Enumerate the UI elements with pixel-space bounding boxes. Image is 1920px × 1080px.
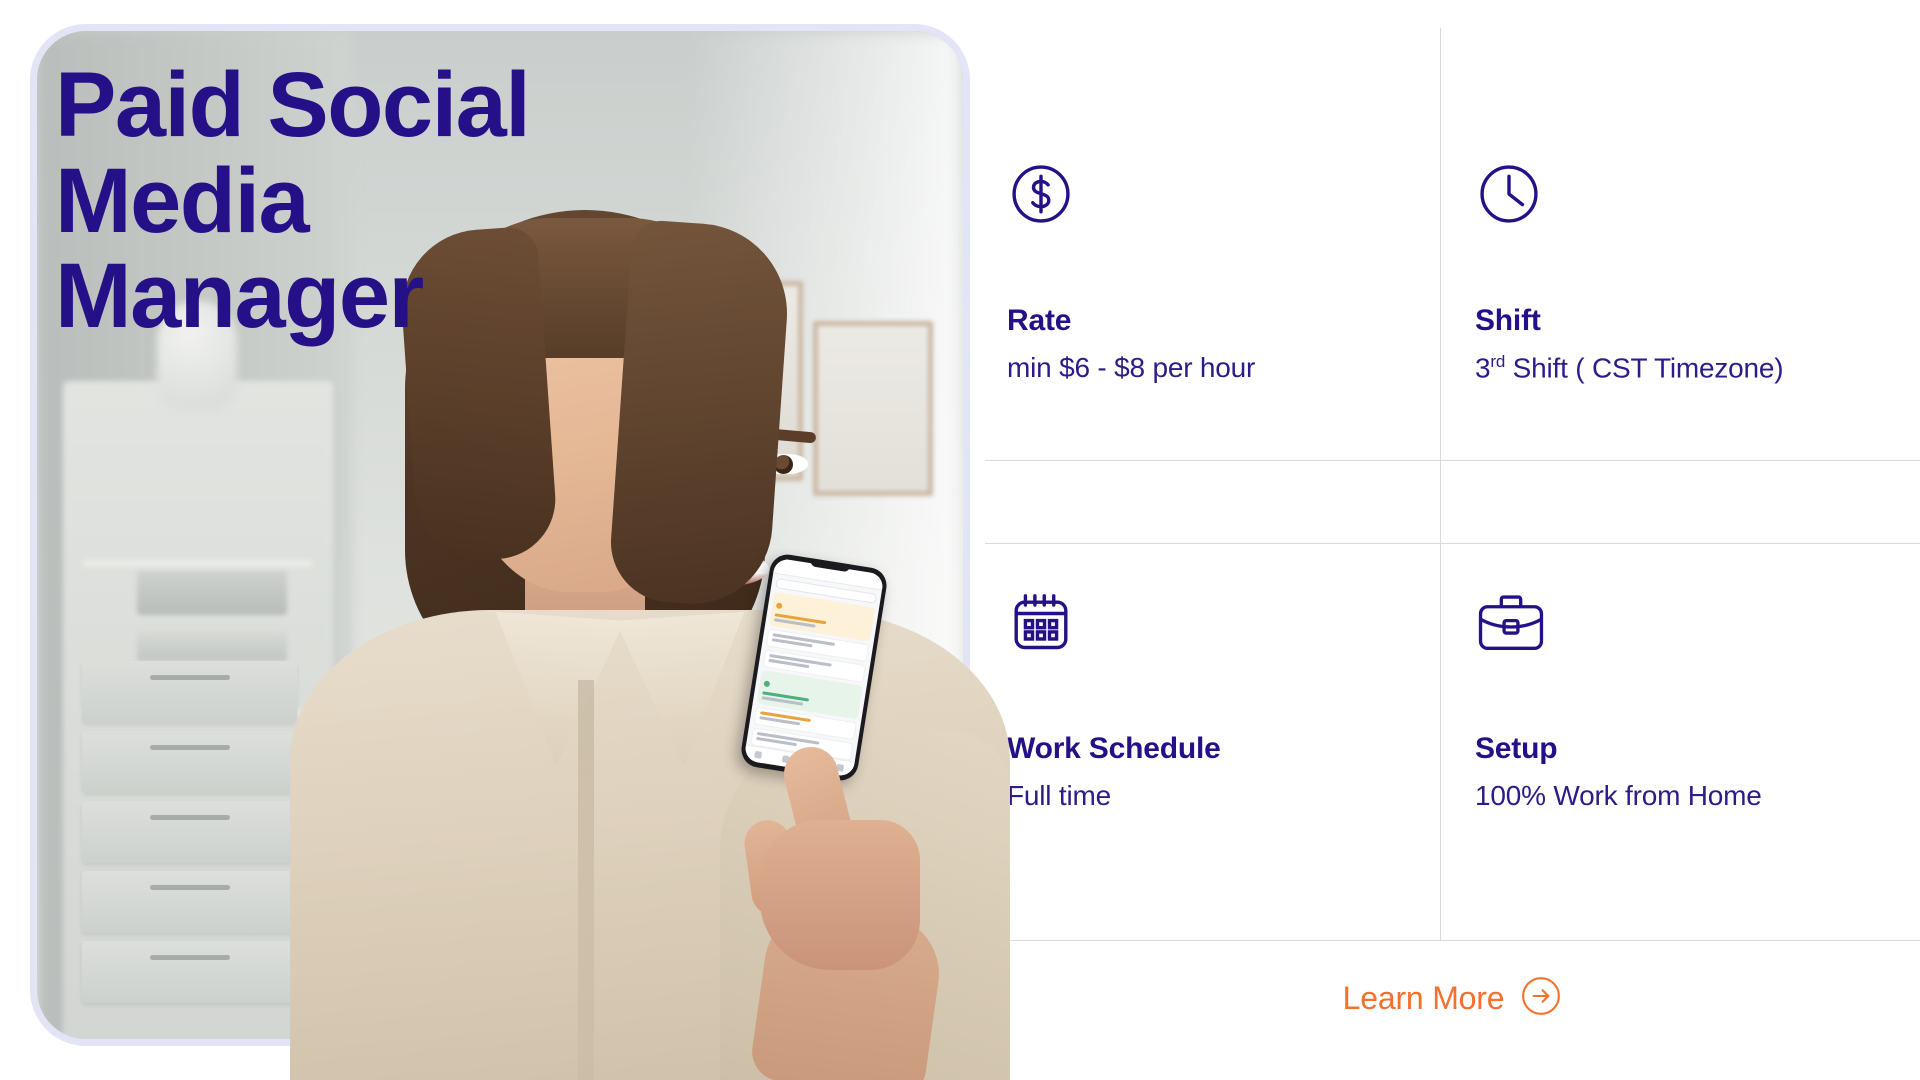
detail-title-rate: Rate <box>1007 304 1437 338</box>
learn-more-label: Learn More <box>1343 980 1505 1017</box>
palm <box>760 820 920 970</box>
detail-title-work-schedule: Work Schedule <box>1007 732 1437 766</box>
learn-more-button[interactable]: Learn More <box>985 975 1920 1022</box>
arrow-right-circle-icon[interactable] <box>1520 975 1562 1022</box>
drawer-2 <box>82 731 297 793</box>
drawer-4 <box>82 871 297 933</box>
detail-value-shift: 3rd Shift ( CST Timezone) <box>1475 352 1905 384</box>
clock-icon <box>1475 160 1905 232</box>
detail-title-shift: Shift <box>1475 304 1905 338</box>
page-title: Paid Social Media Manager <box>55 58 715 345</box>
drawer-3 <box>82 801 297 863</box>
hand-holding-phone <box>740 700 940 960</box>
drawer-5 <box>82 941 297 1003</box>
dollar-circle-icon <box>1007 160 1437 232</box>
detail-value-work-schedule: Full time <box>1007 780 1437 812</box>
horizontal-divider-top <box>985 460 1920 461</box>
shift-ordinal-suffix: rd <box>1490 352 1505 371</box>
books-stack-1 <box>137 571 287 615</box>
shift-ordinal-number: 3 <box>1475 352 1490 383</box>
job-details-panel: Rate min $6 - $8 per hour Shift 3rd Shif… <box>985 0 1920 1080</box>
title-line-1: Paid Social <box>55 54 529 156</box>
detail-title-setup: Setup <box>1475 732 1905 766</box>
shift-value-text: Shift ( CST Timezone) <box>1505 352 1783 383</box>
detail-cell-setup: Setup 100% Work from Home <box>1475 588 1905 812</box>
briefcase-icon <box>1475 588 1905 660</box>
drawer-1 <box>82 661 297 723</box>
horizontal-divider-middle <box>985 543 1920 544</box>
title-line-2: Media <box>55 150 308 252</box>
detail-cell-shift: Shift 3rd Shift ( CST Timezone) <box>1475 160 1905 384</box>
promo-banner: Paid Social Media Manager Rate min $6 - … <box>0 0 1920 1080</box>
detail-value-setup: 100% Work from Home <box>1475 780 1905 812</box>
title-line-3: Manager <box>55 245 423 347</box>
vertical-divider <box>1440 28 1441 940</box>
horizontal-divider-bottom <box>985 940 1920 941</box>
shirt-placket <box>578 680 594 1080</box>
detail-cell-work-schedule: Work Schedule Full time <box>1007 588 1437 812</box>
detail-value-rate: min $6 - $8 per hour <box>1007 352 1437 384</box>
detail-cell-rate: Rate min $6 - $8 per hour <box>1007 160 1437 384</box>
books-stack-2 <box>137 631 287 661</box>
calendar-icon <box>1007 588 1437 660</box>
